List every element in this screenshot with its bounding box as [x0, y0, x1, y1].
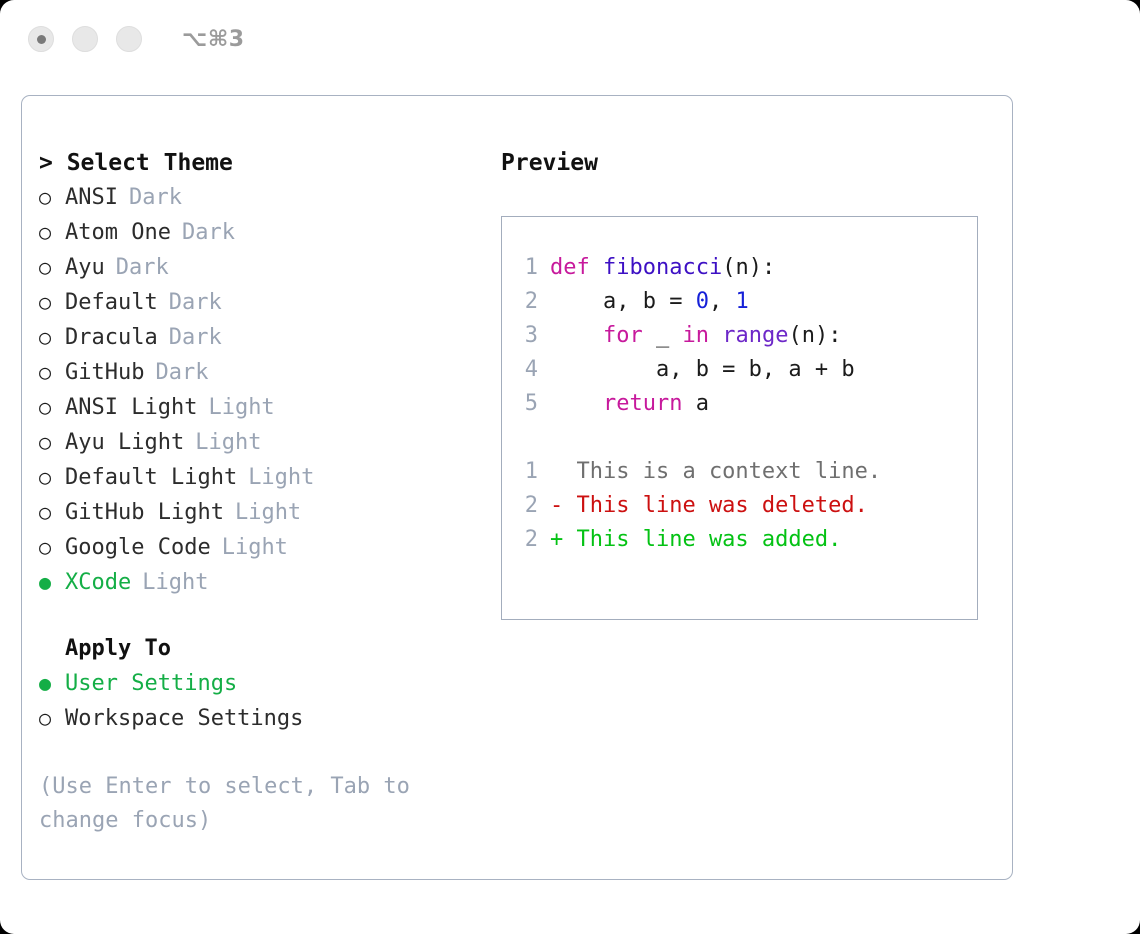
radio-unselected-icon: ○ [39, 215, 65, 249]
theme-name: XCode [65, 566, 131, 600]
radio-unselected-icon: ○ [39, 320, 65, 354]
code-line: 1def fibonacci(n): [502, 251, 977, 285]
apply-to-option[interactable]: ●User Settings [39, 666, 489, 701]
apply-to-label: User Settings [65, 667, 237, 701]
code-token-num: 0 [696, 289, 709, 314]
theme-list-item[interactable]: ○GitHubDark [39, 355, 489, 390]
code-line: 2 a, b = 0, 1 [502, 285, 977, 319]
theme-list-item[interactable]: ○Atom OneDark [39, 215, 489, 250]
theme-variant-tag: Light [222, 531, 288, 565]
code-token-plain: (n): [722, 255, 775, 280]
preview-heading: Preview [501, 146, 991, 180]
help-text: (Use Enter to select, Tab to change focu… [39, 770, 439, 838]
radio-selected-icon: ● [39, 565, 65, 599]
radio-unselected-icon: ○ [39, 460, 65, 494]
window-dot-second[interactable] [72, 26, 98, 52]
code-token-plain [550, 323, 603, 348]
theme-name: Dracula [65, 321, 158, 355]
theme-name: ANSI Light [65, 391, 197, 425]
radio-unselected-icon: ○ [39, 285, 65, 319]
theme-variant-tag: Light [195, 426, 261, 460]
theme-list-item[interactable]: ○ANSI LightLight [39, 390, 489, 425]
code-token-kw: def [550, 255, 590, 280]
code-token-fn: fibonacci [603, 255, 722, 280]
theme-name: ANSI [65, 181, 118, 215]
radio-selected-icon: ● [39, 666, 65, 700]
diff-line: 1 This is a context line. [502, 455, 977, 489]
theme-list-item[interactable]: ○Default LightLight [39, 460, 489, 495]
theme-variant-tag: Dark [129, 181, 182, 215]
diff-line: 2+ This line was added. [502, 523, 977, 557]
code-token-kw: for [603, 323, 643, 348]
theme-list-item[interactable]: ○AyuDark [39, 250, 489, 285]
diff-line-number: 2 [502, 489, 550, 523]
theme-name: Atom One [65, 216, 171, 250]
code-token-kw: return [603, 391, 682, 416]
code-line-text: def fibonacci(n): [550, 251, 775, 285]
theme-variant-tag: Dark [169, 286, 222, 320]
window-dot-core-icon [37, 35, 46, 44]
theme-name: Ayu [65, 251, 105, 285]
code-line-text: a, b = b, a + b [550, 353, 855, 387]
theme-name: Default Light [65, 461, 237, 495]
window-controls [28, 26, 142, 52]
diff-line-number: 1 [502, 455, 550, 489]
theme-variant-tag: Light [248, 461, 314, 495]
code-token-plain: , [709, 289, 736, 314]
diff-line: 2- This line was deleted. [502, 489, 977, 523]
theme-variant-tag: Dark [116, 251, 169, 285]
code-token-plain: a, b = [550, 289, 696, 314]
theme-picker-panel: > Select Theme ○ANSIDark○Atom OneDark○Ay… [21, 95, 1013, 880]
radio-unselected-icon: ○ [39, 701, 65, 735]
theme-list-item[interactable]: ○Ayu LightLight [39, 425, 489, 460]
code-line-text: return a [550, 387, 709, 421]
radio-unselected-icon: ○ [39, 180, 65, 214]
theme-variant-tag: Dark [182, 216, 235, 250]
code-token-plain [590, 255, 603, 280]
theme-variant-tag: Dark [169, 321, 222, 355]
code-line-text: for _ in range(n): [550, 319, 841, 353]
theme-list-item[interactable]: ●XCodeLight [39, 565, 489, 600]
theme-variant-tag: Light [235, 496, 301, 530]
code-diff-spacer [502, 421, 977, 455]
preview-column: Preview 1def fibonacci(n):2 a, b = 0, 13… [501, 146, 991, 620]
code-line-number: 4 [502, 353, 550, 387]
code-token-bi: range [722, 323, 788, 348]
radio-unselected-icon: ○ [39, 250, 65, 284]
diff-sample: 1 This is a context line.2- This line wa… [502, 455, 977, 557]
window-dot-third[interactable] [116, 26, 142, 52]
preview-box: 1def fibonacci(n):2 a, b = 0, 13 for _ i… [501, 216, 978, 620]
code-line: 5 return a [502, 387, 977, 421]
code-line-number: 5 [502, 387, 550, 421]
select-theme-heading: > Select Theme [39, 146, 489, 180]
code-line: 4 a, b = b, a + b [502, 353, 977, 387]
radio-unselected-icon: ○ [39, 530, 65, 564]
code-token-plain: (n): [788, 323, 841, 348]
code-token-plain [709, 323, 722, 348]
code-line-number: 1 [502, 251, 550, 285]
theme-name: Ayu Light [65, 426, 184, 460]
apply-to-heading: Apply To [39, 632, 489, 666]
code-line-number: 3 [502, 319, 550, 353]
radio-unselected-icon: ○ [39, 495, 65, 529]
code-token-plain: a [682, 391, 709, 416]
window-dot-active[interactable] [28, 26, 54, 52]
diff-line-text-del: - This line was deleted. [550, 489, 868, 523]
theme-name: GitHub [65, 356, 144, 390]
code-line-number: 2 [502, 285, 550, 319]
theme-name: Default [65, 286, 158, 320]
theme-selection-column: > Select Theme ○ANSIDark○Atom OneDark○Ay… [39, 146, 489, 838]
code-token-num: 1 [735, 289, 748, 314]
code-line: 3 for _ in range(n): [502, 319, 977, 353]
apply-to-label: Workspace Settings [65, 702, 303, 736]
code-token-plain: _ [643, 323, 683, 348]
radio-unselected-icon: ○ [39, 425, 65, 459]
theme-list: ○ANSIDark○Atom OneDark○AyuDark○DefaultDa… [39, 180, 489, 600]
code-sample: 1def fibonacci(n):2 a, b = 0, 13 for _ i… [502, 251, 977, 421]
theme-list-item[interactable]: ○ANSIDark [39, 180, 489, 215]
theme-list-item[interactable]: ○DefaultDark [39, 285, 489, 320]
theme-variant-tag: Dark [155, 356, 208, 390]
code-token-plain: a, b = b, a + b [550, 357, 855, 382]
theme-variant-tag: Light [142, 566, 208, 600]
title-bar: ⌥⌘3 [0, 0, 1140, 78]
apply-to-option[interactable]: ○Workspace Settings [39, 701, 489, 736]
theme-name: GitHub Light [65, 496, 224, 530]
radio-unselected-icon: ○ [39, 390, 65, 424]
diff-line-number: 2 [502, 523, 550, 557]
theme-variant-tag: Light [208, 391, 274, 425]
code-token-kw: in [682, 323, 709, 348]
diff-line-text-ctx: This is a context line. [550, 455, 881, 489]
apply-to-list: ●User Settings○Workspace Settings [39, 666, 489, 736]
theme-list-item[interactable]: ○GitHub LightLight [39, 495, 489, 530]
keyboard-shortcut-label: ⌥⌘3 [182, 27, 245, 52]
theme-list-item[interactable]: ○DraculaDark [39, 320, 489, 355]
theme-name: Google Code [65, 531, 211, 565]
theme-list-item[interactable]: ○Google CodeLight [39, 530, 489, 565]
diff-line-text-add: + This line was added. [550, 523, 841, 557]
code-token-plain [550, 391, 603, 416]
code-line-text: a, b = 0, 1 [550, 285, 749, 319]
app-window: ⌥⌘3 > Select Theme ○ANSIDark○Atom OneDar… [0, 0, 1140, 934]
radio-unselected-icon: ○ [39, 355, 65, 389]
